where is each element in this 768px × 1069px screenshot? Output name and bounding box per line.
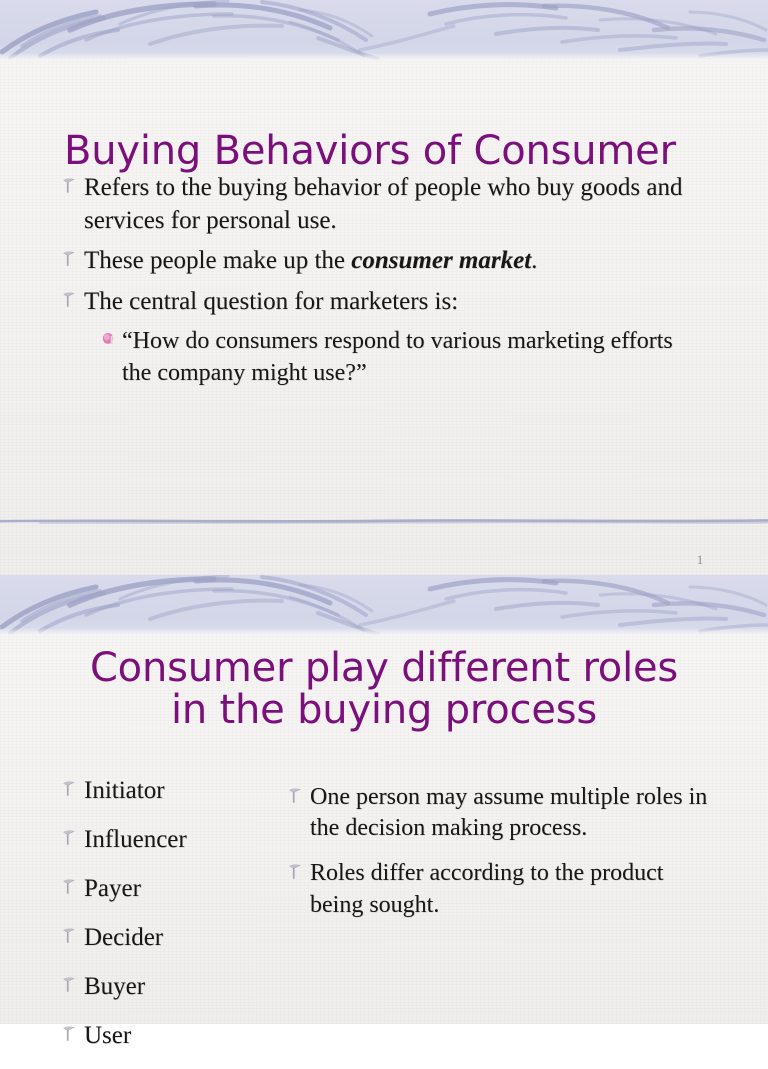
feather-bullet-glyph [62,878,78,896]
bullet-item: Buyer [62,971,277,1003]
pink-blob-bullet-glyph [102,332,116,348]
bullet-text-part: . [531,247,537,274]
bullet-item: The central question for marketers is: [62,286,702,319]
bullet-text: Initiator [84,775,277,807]
slide-1-sub-bullet-list: “How do consumers respond to various mar… [102,326,702,389]
bullet-item: These people make up the consumer market… [62,245,702,278]
feather-bullet-glyph [62,177,78,195]
slide-2-title: Consumer play different roles in the buy… [0,647,768,732]
feather-bullet-icon [62,971,84,994]
bullet-item: Decider [62,922,277,954]
sub-bullet-item: “How do consumers respond to various mar… [102,326,702,389]
brush-stroke-pattern-icon [0,0,768,60]
bullet-text-part: These people make up the [84,247,351,274]
feather-bullet-glyph [62,976,78,994]
bullet-item: User [62,1020,277,1052]
feather-bullet-glyph [62,1025,78,1043]
bullet-item: Payer [62,873,277,905]
feather-bullet-glyph [62,250,78,268]
bullet-text: Refers to the buying behavior of people … [84,172,702,237]
sub-bullet-text: “How do consumers respond to various mar… [122,326,702,389]
feather-bullet-glyph [62,927,78,945]
feather-bullet-icon [288,858,310,881]
feather-bullet-icon [62,172,84,195]
pink-blob-bullet-icon [102,326,122,348]
feather-bullet-icon [62,775,84,798]
bullet-text: These people make up the consumer market… [84,245,702,278]
feather-bullet-glyph [288,787,304,805]
bullet-text: Payer [84,873,277,905]
bullet-text: Decider [84,922,277,954]
decorative-header-band-slide-1 [0,0,768,60]
feather-bullet-icon [62,824,84,847]
slide-1-title: Buying Behaviors of Consumer [64,130,676,172]
feather-bullet-glyph [288,863,304,881]
band-bottom-fade [0,53,768,60]
feather-bullet-icon [62,1020,84,1043]
bullet-text: Influencer [84,824,277,856]
bullet-text: Buyer [84,971,277,1003]
presentation-page: Buying Behaviors of Consumer Refers to t… [0,0,768,1024]
bullet-text: The central question for marketers is: [84,286,702,319]
slide-2-notes-list: One person may assume multiple roles in … [288,782,708,935]
feather-bullet-icon [62,245,84,268]
feather-bullet-glyph [62,829,78,847]
bullet-text: Roles differ according to the product be… [310,858,708,920]
bullet-text: User [84,1020,277,1052]
bullet-text-emphasis: consumer market [351,247,531,274]
band-bottom-fade [0,628,768,635]
brush-stroke-pattern-icon [0,575,768,635]
decorative-header-band-slide-2 [0,575,768,635]
slide-1: Buying Behaviors of Consumer Refers to t… [0,0,768,575]
bullet-item: Initiator [62,775,277,807]
bullet-item: Roles differ according to the product be… [288,858,708,920]
bullet-item: Influencer [62,824,277,856]
feather-bullet-icon [288,782,310,805]
slide-2-roles-list: Initiator Influencer Payer [62,775,277,1069]
page-number: 1 [688,552,712,568]
footer-divider-rule [0,518,768,526]
slide-1-bullet-list: Refers to the buying behavior of people … [62,172,702,392]
feather-bullet-glyph [62,780,78,798]
bullet-item: Refers to the buying behavior of people … [62,172,702,237]
feather-bullet-glyph [62,291,78,309]
feather-bullet-icon [62,873,84,896]
feather-bullet-icon [62,286,84,309]
feather-bullet-icon [62,922,84,945]
bullet-text: One person may assume multiple roles in … [310,782,708,844]
bullet-item: One person may assume multiple roles in … [288,782,708,844]
